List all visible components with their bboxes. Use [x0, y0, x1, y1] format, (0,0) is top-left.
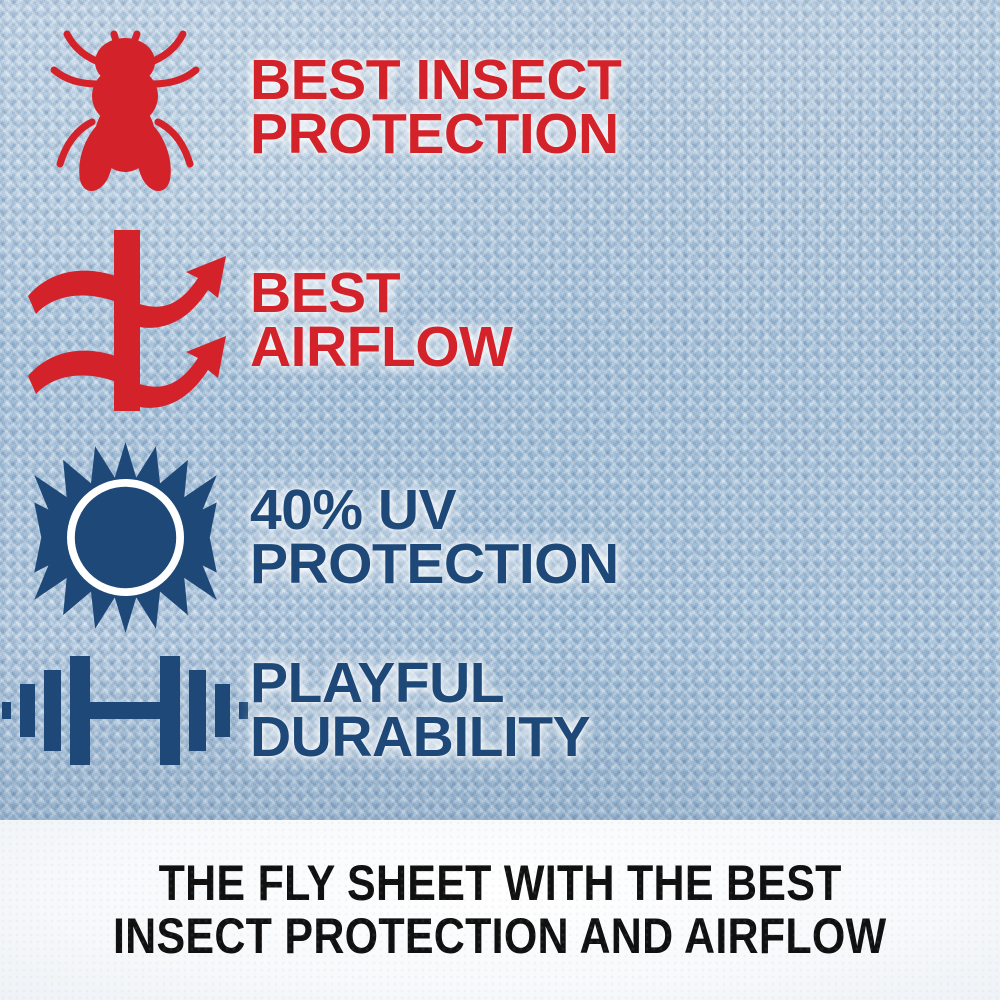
- feature-icon-cell: [0, 440, 250, 635]
- feature-text-cell: 40% UV PROTECTION: [250, 484, 619, 591]
- caption-line-2: INSECT PROTECTION AND AIRFLOW: [113, 910, 886, 963]
- feature-label-insect-protection: BEST INSECT PROTECTION: [250, 54, 621, 161]
- dumbbell-icon: [0, 648, 250, 773]
- product-feature-infographic: BEST INSECT PROTECTION: [0, 0, 1000, 1000]
- caption-band: THE FLY SHEET WITH THE BEST INSECT PROTE…: [0, 820, 1000, 1000]
- feature-icon-cell: [0, 648, 250, 773]
- feature-row-insect-protection: BEST INSECT PROTECTION: [0, 18, 621, 198]
- feature-text-cell: PLAYFUL DURABILITY: [250, 657, 590, 764]
- caption-line-1: THE FLY SHEET WITH THE BEST: [158, 857, 841, 910]
- feature-icon-cell: [0, 18, 250, 198]
- feature-row-durability: PLAYFUL DURABILITY: [0, 648, 590, 773]
- feature-text-cell: BEST AIRFLOW: [250, 267, 512, 374]
- airflow-arrows-icon: [18, 228, 233, 413]
- feature-label-airflow: BEST AIRFLOW: [250, 267, 512, 374]
- feature-icon-cell: [0, 228, 250, 413]
- feature-row-airflow: BEST AIRFLOW: [0, 228, 512, 413]
- fly-icon: [40, 18, 210, 198]
- feature-label-uv-protection: 40% UV PROTECTION: [250, 484, 619, 591]
- feature-label-durability: PLAYFUL DURABILITY: [250, 657, 590, 764]
- feature-list: BEST INSECT PROTECTION: [0, 0, 1000, 820]
- sun-icon: [28, 440, 223, 635]
- feature-text-cell: BEST INSECT PROTECTION: [250, 54, 621, 161]
- feature-row-uv-protection: 40% UV PROTECTION: [0, 440, 619, 635]
